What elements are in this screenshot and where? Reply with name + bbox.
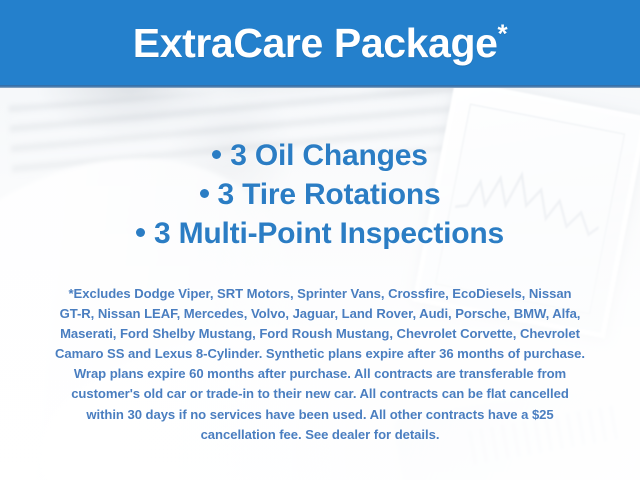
list-item: 3 Tire Rotations <box>0 175 640 214</box>
bullet-icon <box>200 189 209 198</box>
benefit-label: 3 Tire Rotations <box>218 178 441 211</box>
fine-print-disclaimer: *Excludes Dodge Viper, SRT Motors, Sprin… <box>0 284 640 445</box>
benefit-label: 3 Multi-Point Inspections <box>154 217 504 250</box>
page-title: ExtraCare Package* <box>133 23 507 66</box>
fine-print-line: Camaro SS and Lexus 8-Cylinder. Syntheti… <box>20 344 620 364</box>
fine-print-line: within 30 days if no services have been … <box>20 405 620 425</box>
list-item: 3 Multi-Point Inspections <box>0 214 640 253</box>
benefit-label: 3 Oil Changes <box>230 139 427 172</box>
fine-print-line: Maserati, Ford Shelby Mustang, Ford Rous… <box>20 324 620 344</box>
fine-print-line: Wrap plans expire 60 months after purcha… <box>20 364 620 384</box>
extracare-package-promo-banner: ExtraCare Package* 3 Oil Changes 3 Tire … <box>0 0 640 480</box>
main-content: 3 Oil Changes 3 Tire Rotations 3 Multi-P… <box>0 88 640 480</box>
benefits-list: 3 Oil Changes 3 Tire Rotations 3 Multi-P… <box>0 88 640 253</box>
fine-print-line: GT-R, Nissan LEAF, Mercedes, Volvo, Jagu… <box>20 304 620 324</box>
fine-print-line: *Excludes Dodge Viper, SRT Motors, Sprin… <box>20 284 620 304</box>
header-band: ExtraCare Package* <box>0 0 640 88</box>
page-title-text: ExtraCare Package <box>133 20 498 66</box>
bullet-icon <box>212 150 221 159</box>
fine-print-line: cancellation fee. See dealer for details… <box>20 425 620 445</box>
fine-print-line: customer's old car or trade-in to their … <box>20 384 620 404</box>
page-title-asterisk: * <box>498 18 508 48</box>
bullet-icon <box>136 228 145 237</box>
list-item: 3 Oil Changes <box>0 136 640 175</box>
